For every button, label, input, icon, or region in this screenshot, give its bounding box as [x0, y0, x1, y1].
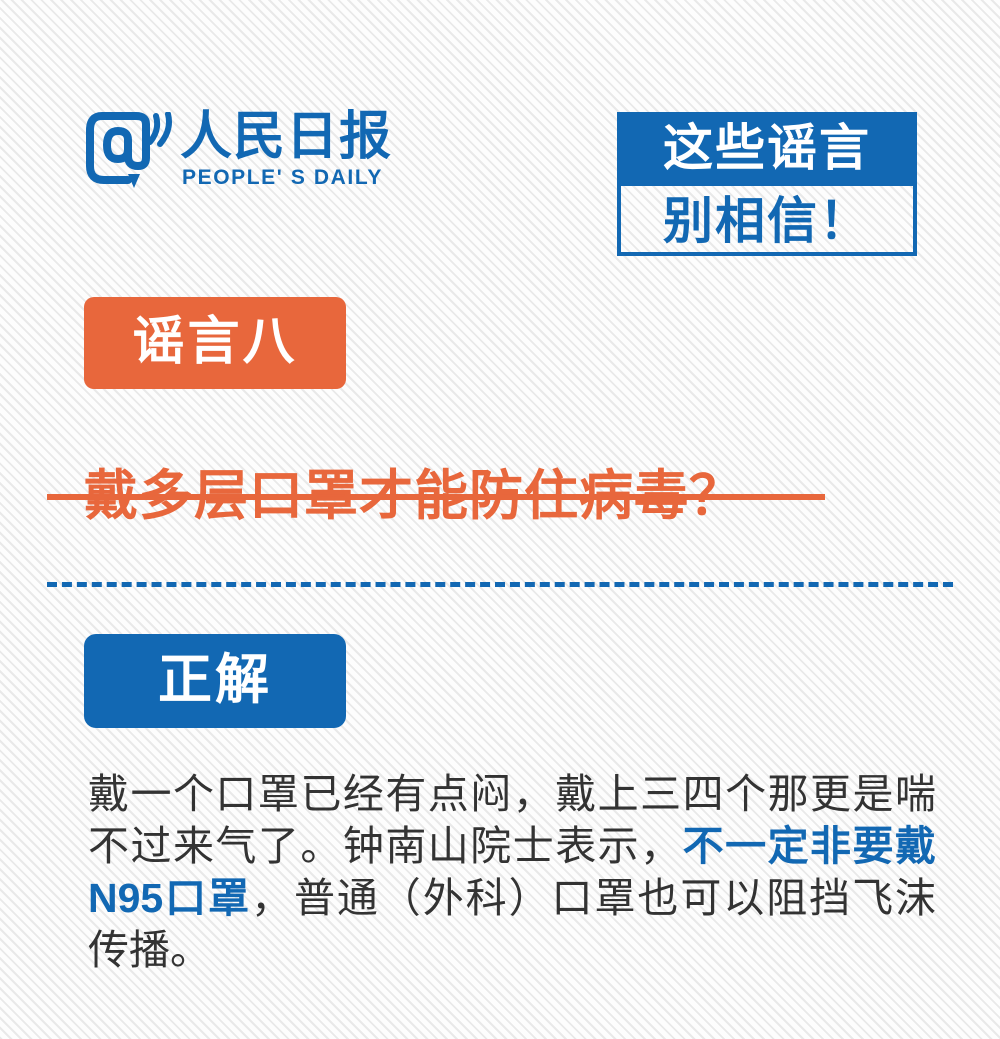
banner-line-1: 这些谣言	[617, 112, 917, 186]
dashed-divider	[47, 582, 953, 587]
rumor-headline: 戴多层口罩才能防住病毒？	[84, 458, 744, 534]
at-speech-bubble-icon	[84, 112, 176, 194]
peoples-daily-logo: 人民日报 PEOPLE' S DAILY	[84, 108, 384, 200]
rumor-badge: 谣言八	[84, 297, 346, 389]
poster-canvas: 人民日报 PEOPLE' S DAILY 这些谣言 别相信！ 谣言八 戴多层口罩…	[0, 0, 1000, 1039]
logo-english-name: PEOPLE' S DAILY	[182, 166, 383, 190]
banner-line-2: 别相信！	[617, 186, 917, 256]
answer-badge: 正解	[84, 634, 346, 728]
answer-badge-label: 正解	[84, 634, 346, 728]
rumor-badge-label: 谣言八	[84, 297, 346, 389]
logo-chinese-name: 人民日报	[180, 108, 392, 166]
headline-banner: 这些谣言 别相信！	[617, 112, 917, 260]
answer-body-text: 戴一个口罩已经有点闷，戴上三四个那更是喘不过来气了。钟南山院士表示，不一定非要戴…	[88, 768, 936, 976]
